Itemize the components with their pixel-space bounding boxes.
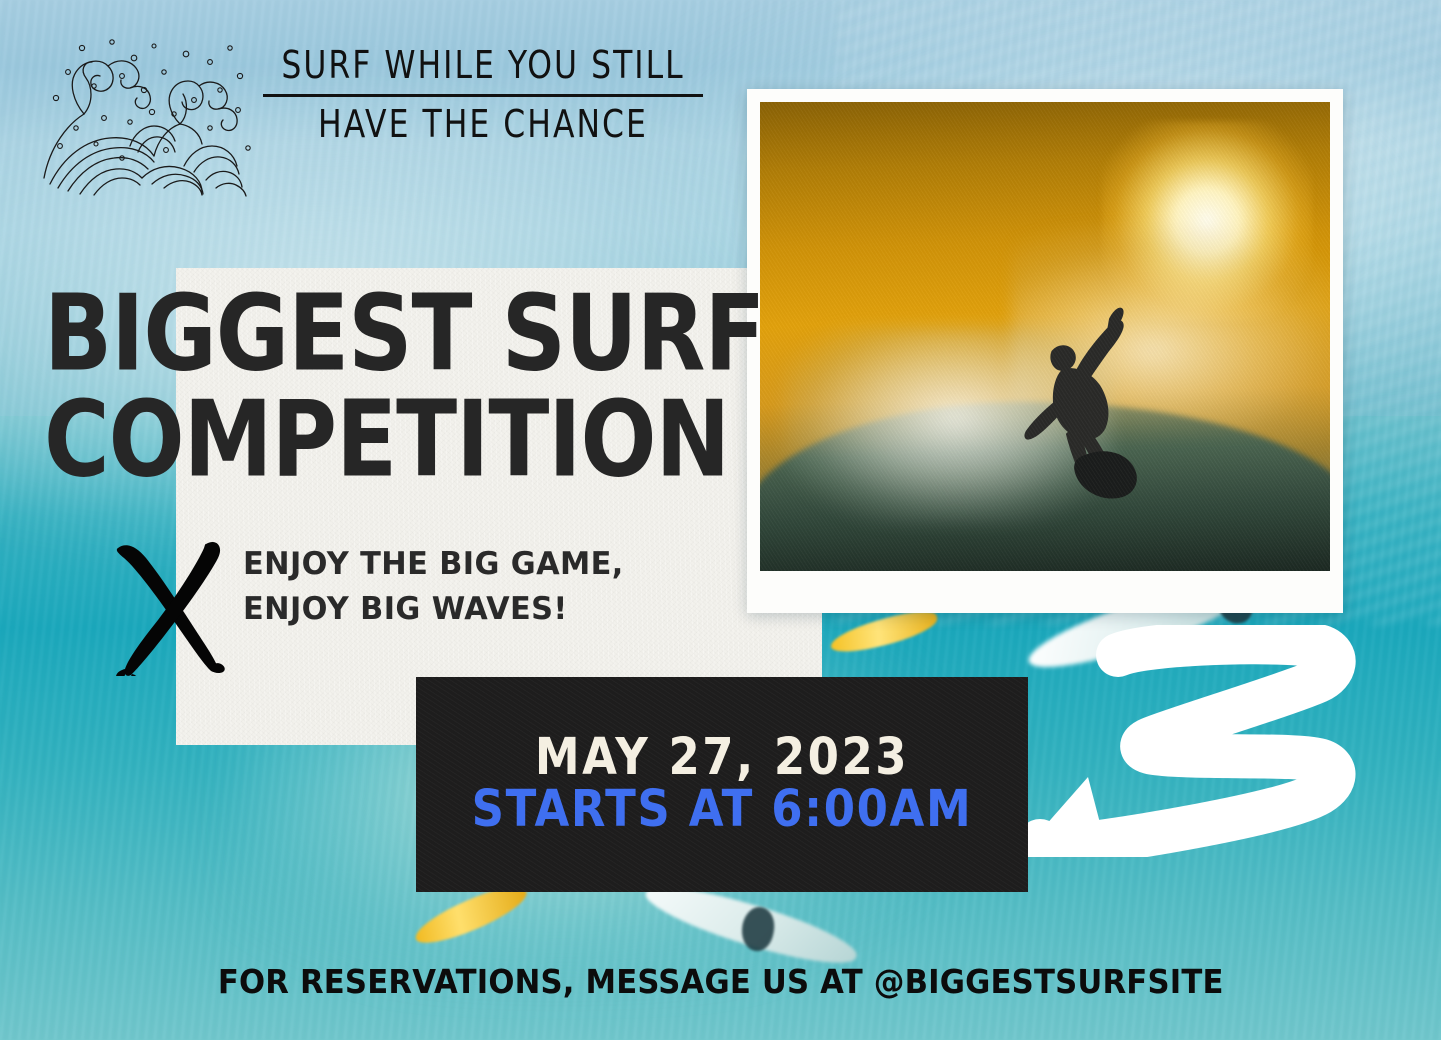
header-tagline-line2: HAVE THE CHANCE [267, 105, 699, 144]
event-date-block: MAY 27, 2023 STARTS AT 6:00AM [416, 677, 1028, 892]
header-divider-rule [263, 94, 703, 97]
event-start-time: STARTS AT 6:00AM [416, 783, 1028, 835]
header-tagline: SURF WHILE YOU STILL HAVE THE CHANCE [248, 46, 718, 144]
subtitle-line2: ENJOY BIG WAVES! [243, 587, 624, 632]
ocean-wave-logo-icon [34, 28, 262, 198]
event-date: MAY 27, 2023 [416, 731, 1028, 783]
header-tagline-line1: SURF WHILE YOU STILL [267, 46, 699, 85]
reservations-text: FOR RESERVATIONS, MESSAGE US AT @BIGGEST… [218, 962, 1224, 1001]
subtitle: ENJOY THE BIG GAME, ENJOY BIG WAVES! [243, 542, 631, 632]
reservations-footer: FOR RESERVATIONS, MESSAGE US AT @BIGGEST… [0, 962, 1441, 1001]
white-zigzag-arrow-icon [1000, 625, 1362, 857]
page-title-line1: BIGGEST SURF [44, 283, 897, 386]
page-title-line2: COMPETITION [44, 389, 897, 492]
subtitle-line1: ENJOY THE BIG GAME, [243, 542, 624, 587]
page-title: BIGGEST SURF COMPETITION [44, 292, 864, 483]
brush-stroke-x-mark-icon [106, 528, 234, 676]
surf-competition-poster: SURF WHILE YOU STILL HAVE THE CHANCE [0, 0, 1441, 1040]
